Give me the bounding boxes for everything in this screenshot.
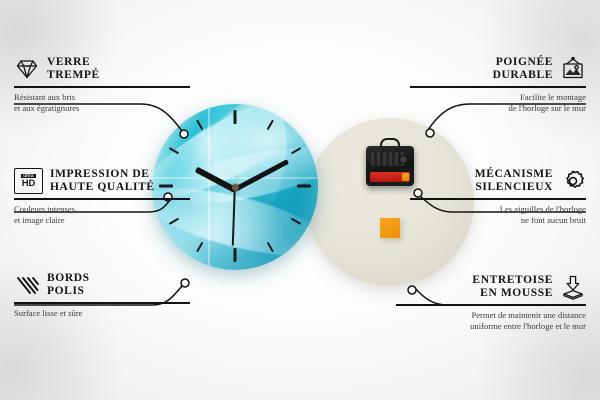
feature-description: Facilite le montage de l'horloge sur le …: [410, 92, 586, 114]
feature-description: Résistant aux bris et aux égratignures: [14, 92, 190, 114]
feature-description: Couleurs intenses et image claire: [14, 204, 190, 226]
diamond-icon: [14, 56, 40, 82]
feature-title: POIGNÉE DURABLE: [493, 56, 553, 82]
gear-icon: [560, 168, 586, 194]
feature-header: VERRE TREMPÉ: [14, 56, 190, 82]
clock-tick: [196, 120, 203, 131]
divider: [14, 198, 190, 200]
feature-poignee-durable: POIGNÉE DURABLE Facilite le montage de l…: [410, 56, 586, 114]
clock-tick: [234, 248, 237, 262]
feature-entretoise-en-mousse: ENTRETOISE EN MOUSSE Permet de maintenir…: [396, 274, 586, 332]
feature-header: ENTRETOISE EN MOUSSE: [396, 274, 586, 300]
feature-description: Les aiguilles de l'horloge ne font aucun…: [410, 204, 586, 226]
feature-header: ultra HD IMPRESSION DE HAUTE QUALITÉ: [14, 168, 190, 194]
feature-title: MÉCANISME SILENCIEUX: [475, 168, 553, 194]
feature-header: POIGNÉE DURABLE: [410, 56, 586, 82]
ultra-hd-badge-icon: ultra HD: [14, 168, 43, 194]
feature-header: BORDS POLIS: [14, 272, 190, 298]
feature-title: BORDS POLIS: [47, 272, 90, 298]
feature-description: Permet de maintenir une distance uniform…: [396, 310, 586, 332]
feature-title: IMPRESSION DE HAUTE QUALITÉ: [50, 168, 155, 194]
foam-spacer-icon: [560, 274, 586, 300]
feature-title: VERRE TREMPÉ: [47, 56, 100, 82]
divider: [14, 302, 190, 304]
mechanism-dial: [399, 155, 408, 164]
battery: [370, 172, 410, 182]
hands-cap: [232, 184, 239, 191]
clock-tick: [234, 110, 237, 124]
feature-description: Surface lisse et sûre: [14, 308, 190, 319]
divider: [410, 86, 586, 88]
feature-mecanisme-silencieux: MÉCANISME SILENCIEUX Les aiguilles de l'…: [410, 168, 586, 226]
picture-hanger-icon: [560, 56, 586, 82]
foam-spacer: [380, 218, 400, 238]
clock-tick: [297, 185, 311, 188]
divider: [14, 86, 190, 88]
feature-bords-polis: BORDS POLIS Surface lisse et sûre: [14, 272, 190, 319]
divider: [396, 304, 586, 306]
polished-edges-icon: [14, 272, 40, 298]
feature-impression-haute-qualite: ultra HD IMPRESSION DE HAUTE QUALITÉ Cou…: [14, 168, 190, 226]
clock-mechanism: [366, 146, 414, 186]
glass-reflection: [208, 104, 210, 270]
product-infographic: VERRE TREMPÉ Résistant aux bris et aux é…: [0, 0, 600, 400]
feature-title: ENTRETOISE EN MOUSSE: [472, 274, 553, 300]
feature-header: MÉCANISME SILENCIEUX: [410, 168, 586, 194]
divider: [410, 198, 586, 200]
feature-verre-trempe: VERRE TREMPÉ Résistant aux bris et aux é…: [14, 56, 190, 114]
